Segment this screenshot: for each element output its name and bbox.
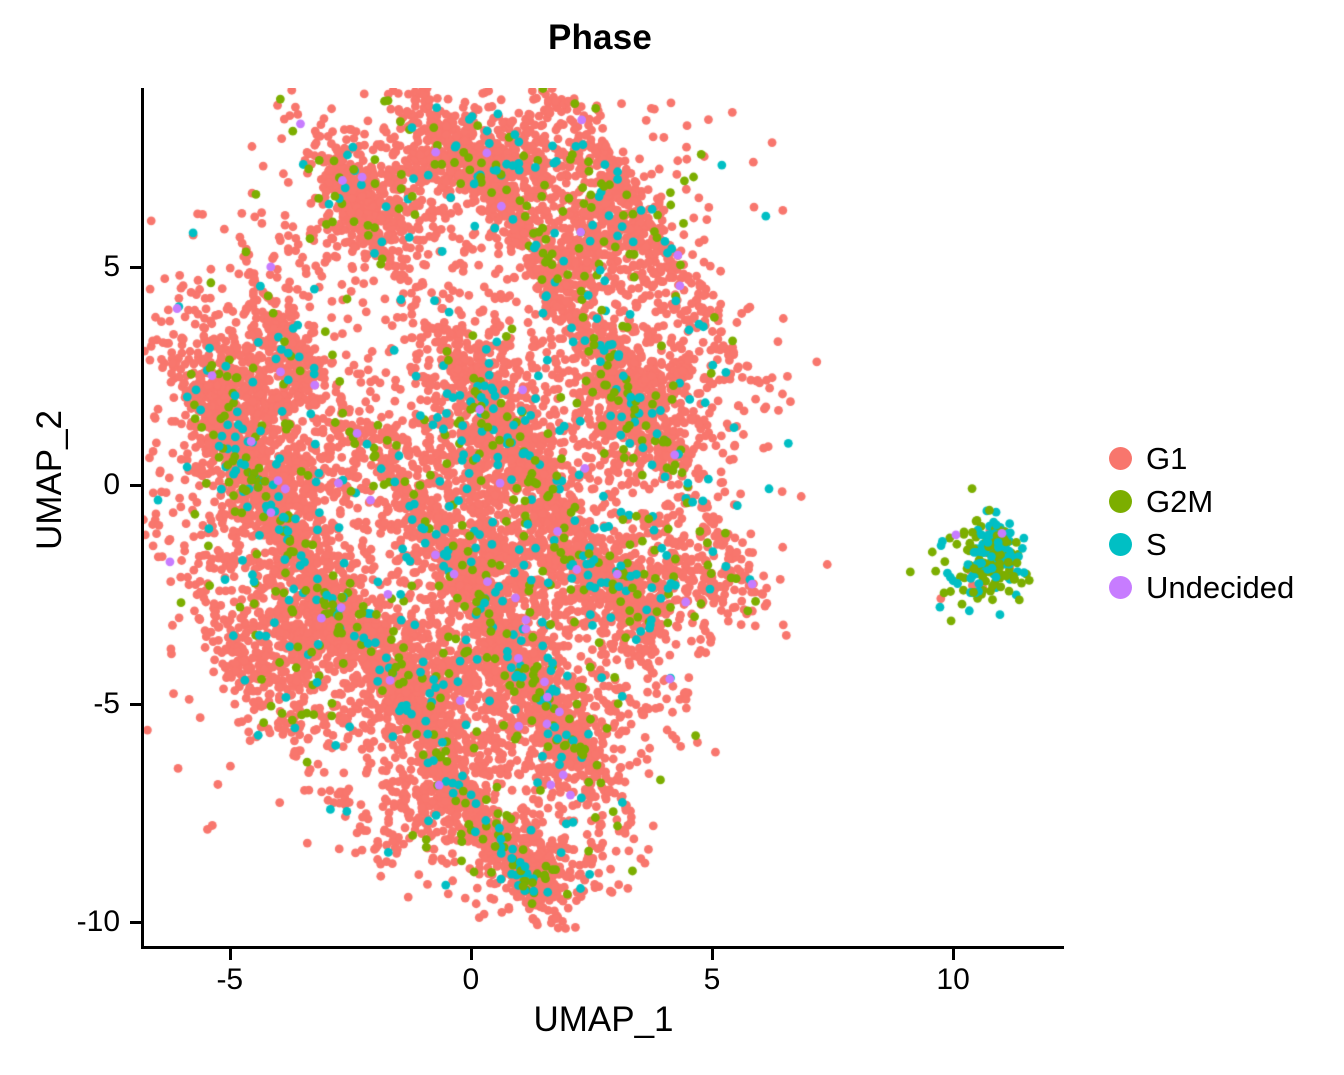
x-tick-mark xyxy=(711,949,714,960)
y-tick-mark xyxy=(130,484,141,487)
legend-item-s[interactable]: S xyxy=(1098,523,1294,566)
legend-label: G2M xyxy=(1142,484,1213,520)
x-tick-mark xyxy=(470,949,473,960)
y-tick-label: 5 xyxy=(30,250,120,284)
legend-item-g2m[interactable]: G2M xyxy=(1098,480,1294,523)
x-tick-mark xyxy=(229,949,232,960)
y-tick-label: -10 xyxy=(30,905,120,939)
scatter-points-canvas xyxy=(143,88,1064,948)
y-tick-mark xyxy=(130,266,141,269)
legend-key-swatch xyxy=(1098,533,1142,556)
legend: G1G2MSUndecided xyxy=(1098,437,1294,609)
y-axis-line xyxy=(141,88,144,949)
x-axis-title: UMAP_1 xyxy=(143,1000,1064,1040)
x-tick-label: -5 xyxy=(170,963,290,997)
y-tick-mark xyxy=(130,921,141,924)
legend-label: G1 xyxy=(1142,441,1187,477)
legend-label: Undecided xyxy=(1142,570,1294,606)
legend-dot-icon xyxy=(1109,533,1132,556)
x-tick-label: 5 xyxy=(652,963,772,997)
legend-dot-icon xyxy=(1109,447,1132,470)
plot-panel xyxy=(143,88,1064,948)
legend-key-swatch xyxy=(1098,490,1142,513)
legend-label: S xyxy=(1142,527,1167,563)
legend-dot-icon xyxy=(1109,576,1132,599)
legend-item-undecided[interactable]: Undecided xyxy=(1098,566,1294,609)
page-title: Phase xyxy=(0,18,1200,58)
y-tick-label: -5 xyxy=(30,687,120,721)
y-axis-title: UMAP_2 xyxy=(30,280,70,680)
x-axis-line xyxy=(141,946,1064,949)
legend-key-swatch xyxy=(1098,447,1142,470)
y-tick-mark xyxy=(130,703,141,706)
legend-item-g1[interactable]: G1 xyxy=(1098,437,1294,480)
x-tick-label: 10 xyxy=(893,963,1013,997)
legend-dot-icon xyxy=(1109,490,1132,513)
legend-key-swatch xyxy=(1098,576,1142,599)
x-tick-mark xyxy=(952,949,955,960)
umap-phase-plot: Phase 50-5-10 -50510 UMAP_1 UMAP_2 G1G2M… xyxy=(0,0,1344,1075)
x-tick-label: 0 xyxy=(411,963,531,997)
